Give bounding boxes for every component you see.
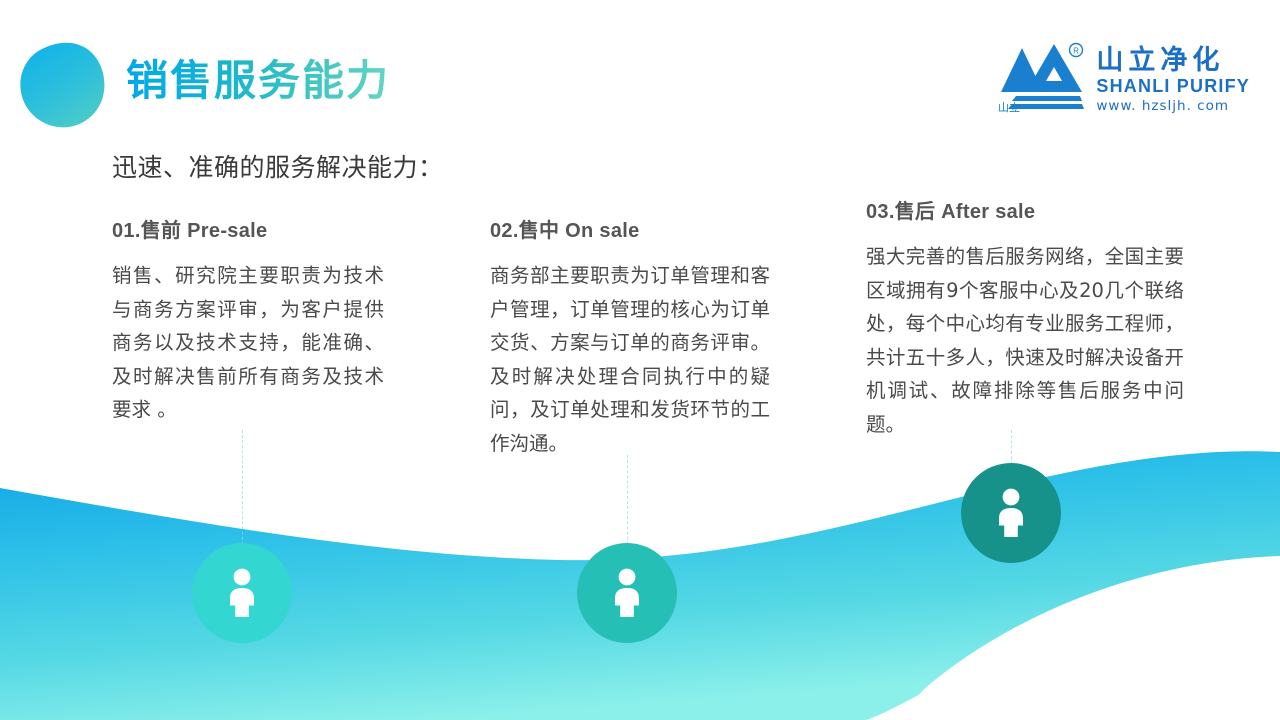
column-number-2: 02. <box>490 220 519 242</box>
person-badge-2 <box>577 543 677 643</box>
wave-cutout-shape-2 <box>898 556 1280 720</box>
column-body-2: 商务部主要职责为订单管理和客户管理，订单管理的核心为订单交货、方案与订单的商务评… <box>490 259 770 460</box>
logo-name-en: SHANLI PURIFY <box>1096 76 1250 97</box>
column-title-en-2: On sale <box>565 220 639 242</box>
wave-cutout-shape <box>866 570 1280 720</box>
section-subtitle: 迅速、准确的服务解决能力： <box>112 148 444 184</box>
person-badge-3 <box>961 463 1061 563</box>
person-icon <box>222 567 262 619</box>
column-title-en-3: After sale <box>941 201 1035 223</box>
column-heading-3: 03.售后 After sale <box>866 195 1184 224</box>
column-title-cn-3: 售后 <box>895 199 936 223</box>
content-column-on-sale: 02.售中 On sale 商务部主要职责为订单管理和客户管理，订单管理的核心为… <box>490 214 770 460</box>
logo-mark-label: 山立 <box>998 100 1020 114</box>
slide-canvas: 销售服务能力 R 山立 山立净化 SHANLI PURI <box>0 0 1280 720</box>
column-title-en-1: Pre-sale <box>187 220 267 242</box>
column-title-cn-2: 售中 <box>519 218 560 242</box>
person-icon <box>991 487 1031 539</box>
column-heading-1: 01.售前 Pre-sale <box>112 214 384 243</box>
connector-line-1 <box>242 430 243 560</box>
column-heading-2: 02.售中 On sale <box>490 214 770 243</box>
svg-text:R: R <box>1074 47 1080 56</box>
logo-website: www. hzsljh. com <box>1096 98 1229 114</box>
content-column-pre-sale: 01.售前 Pre-sale 销售、研究院主要职责为技术与商务方案评审，为客户提… <box>112 214 384 427</box>
logo-name-cn: 山立净化 <box>1096 47 1224 74</box>
column-body-3: 强大完善的售后服务网络，全国主要区域拥有9个客服中心及20几个联络处，每个中心均… <box>866 240 1184 441</box>
page-title: 销售服务能力 <box>126 56 390 106</box>
logo-text-block: 山立净化 SHANLI PURIFY www. hzsljh. com <box>1096 40 1250 114</box>
content-column-after-sale: 03.售后 After sale 强大完善的售后服务网络，全国主要区域拥有9个客… <box>866 195 1184 441</box>
person-icon <box>607 567 647 619</box>
column-body-1: 销售、研究院主要职责为技术与商务方案评审，为客户提供商务以及技术支持，能准确、及… <box>112 259 384 427</box>
column-number-1: 01. <box>112 220 141 242</box>
column-number-3: 03. <box>866 201 895 223</box>
company-logo: R 山立 山立净化 SHANLI PURIFY www. hzsljh. com <box>996 40 1250 114</box>
column-title-cn-1: 售前 <box>141 218 182 242</box>
mountain-logo-icon: R 山立 <box>996 40 1088 114</box>
person-badge-1 <box>192 543 292 643</box>
organic-blob-shape <box>16 38 112 134</box>
